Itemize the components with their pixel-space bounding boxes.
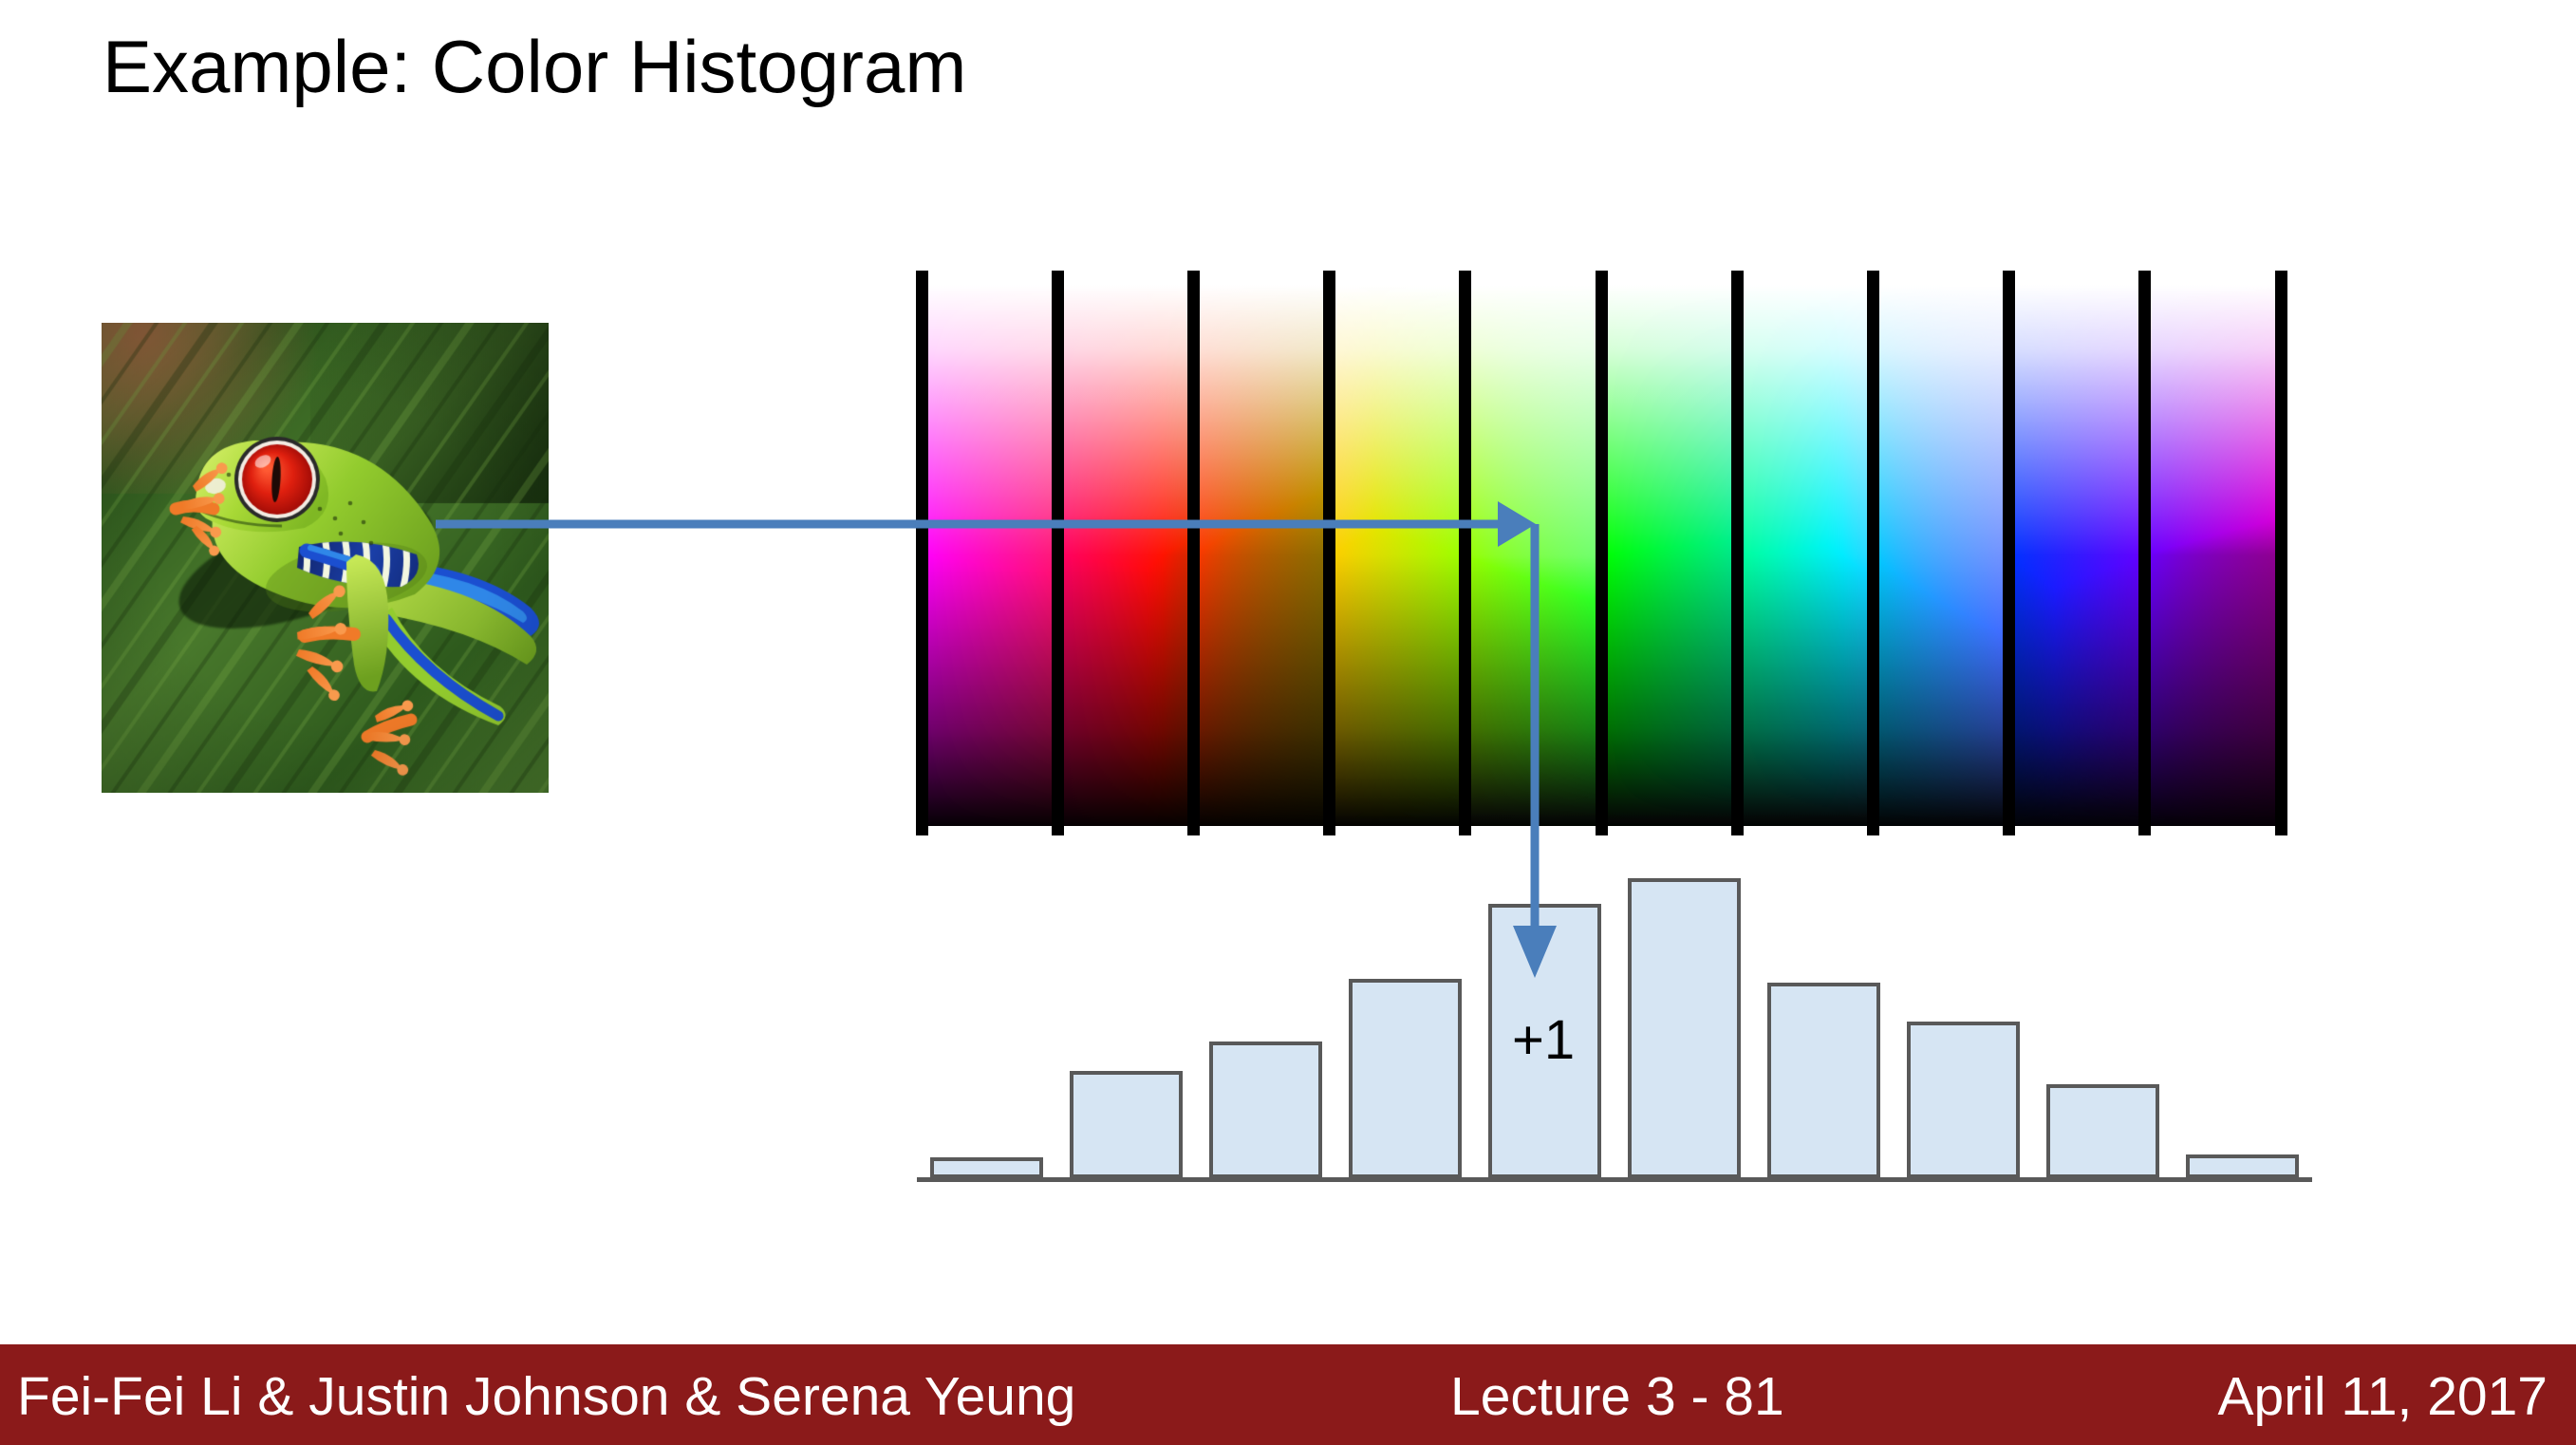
color-bar-divider <box>916 271 928 835</box>
color-bar-divider <box>1052 271 1064 835</box>
color-bar-bin <box>1057 285 1193 826</box>
page-title: Example: Color Histogram <box>103 28 966 106</box>
color-bar-divider <box>1187 271 1200 835</box>
color-bar-bin-hue-sweep <box>922 285 1057 826</box>
color-bar-divider <box>2003 271 2015 835</box>
color-bar-divider <box>2275 271 2287 835</box>
histogram-bar <box>2186 1154 2299 1178</box>
color-bar-bin-hue-sweep <box>1193 285 1329 826</box>
color-bar-bin-hue-sweep <box>1601 285 1737 826</box>
histogram-bar <box>930 1157 1043 1178</box>
histogram-bar <box>1070 1071 1183 1178</box>
color-bar <box>922 271 2281 835</box>
color-bar-bin <box>1601 285 1737 826</box>
footer-authors: Fei-Fei Li & Justin Johnson & Serena Yeu… <box>17 1365 1075 1428</box>
histogram-bar <box>1767 983 1880 1178</box>
color-bar-bin <box>1193 285 1329 826</box>
histogram-bar <box>1349 979 1462 1178</box>
color-bar-bin-hue-sweep <box>1330 285 1465 826</box>
color-bar-bin <box>1737 285 1873 826</box>
color-bar-bin <box>2009 285 2145 826</box>
color-histogram <box>917 854 2312 1182</box>
frog-photo <box>102 323 549 793</box>
color-bar-divider <box>1867 271 1879 835</box>
color-bar-bin <box>1465 285 1601 826</box>
color-bar-bin <box>2145 285 2281 826</box>
color-bar-bin-hue-sweep <box>1465 285 1601 826</box>
color-bar-bin <box>1873 285 2008 826</box>
color-bar-divider <box>1459 271 1471 835</box>
frog-photo-canvas <box>102 323 549 793</box>
color-bar-divider <box>1596 271 1608 835</box>
histogram-bar <box>1209 1042 1322 1178</box>
footer-date: April 11, 2017 <box>2217 1365 2548 1428</box>
color-bar-bin-hue-sweep <box>1057 285 1193 826</box>
color-bar-bin-hue-sweep <box>2009 285 2145 826</box>
footer-lecture-number: Lecture 3 - 81 <box>1450 1365 1784 1428</box>
color-bar-divider <box>1731 271 1744 835</box>
color-bar-bin-hue-sweep <box>2145 285 2281 826</box>
footer: Fei-Fei Li & Justin Johnson & Serena Yeu… <box>0 1344 2576 1445</box>
color-bar-divider <box>2138 271 2151 835</box>
color-bar-bin <box>1330 285 1465 826</box>
color-bar-bin <box>922 285 1057 826</box>
histogram-bar <box>1907 1022 2020 1178</box>
histogram-bar <box>1628 878 1741 1178</box>
increment-label: +1 <box>1512 1008 1575 1072</box>
color-bar-bin-hue-sweep <box>1737 285 1873 826</box>
color-bar-bin-hue-sweep <box>1873 285 2008 826</box>
color-bar-divider <box>1323 271 1335 835</box>
histogram-bar <box>2046 1084 2159 1178</box>
